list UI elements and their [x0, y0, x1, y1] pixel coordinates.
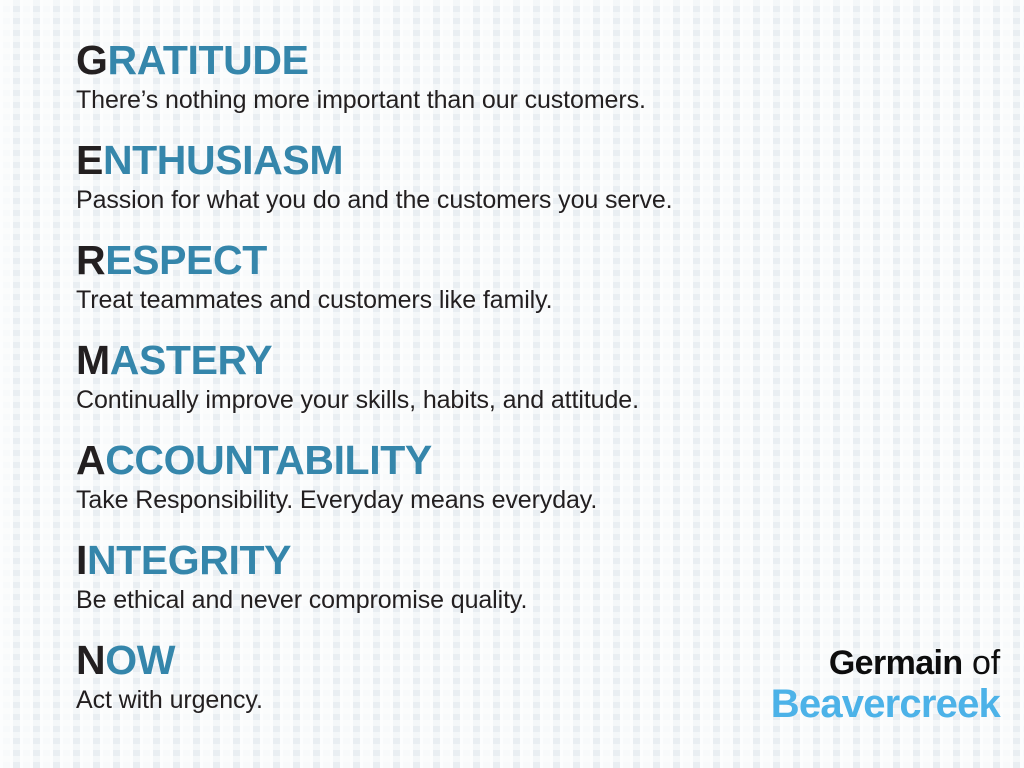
value-initial-now: N — [76, 637, 105, 683]
value-initial-mastery: M — [76, 337, 110, 383]
value-heading-integrity: INTEGRITY — [76, 538, 527, 582]
value-heading-gratitude: GRATITUDE — [76, 38, 646, 82]
values-slide: GRATITUDE There’s nothing more important… — [0, 0, 1024, 768]
value-initial-gratitude: G — [76, 37, 108, 83]
value-block-gratitude: GRATITUDE There’s nothing more important… — [76, 38, 646, 115]
logo-line-primary: Germain of — [771, 644, 1000, 682]
value-heading-rest-now: OW — [105, 637, 175, 683]
value-heading-mastery: MASTERY — [76, 338, 639, 382]
value-block-integrity: INTEGRITY Be ethical and never compromis… — [76, 538, 527, 615]
value-heading-rest-integrity: NTEGRITY — [87, 537, 291, 583]
value-heading-rest-enthusiasm: NTHUSIASM — [103, 137, 343, 183]
value-heading-rest-gratitude: RATITUDE — [108, 37, 309, 83]
value-heading-rest-mastery: ASTERY — [110, 337, 272, 383]
value-heading-rest-respect: ESPECT — [105, 237, 267, 283]
logo-location-name: Beavercreek — [771, 682, 1000, 726]
value-initial-integrity: I — [76, 537, 87, 583]
value-heading-rest-accountability: CCOUNTABILITY — [105, 437, 432, 483]
value-description-now: Act with urgency. — [76, 685, 263, 715]
value-description-respect: Treat teammates and customers like famil… — [76, 285, 553, 315]
value-block-mastery: MASTERY Continually improve your skills,… — [76, 338, 639, 415]
value-description-mastery: Continually improve your skills, habits,… — [76, 385, 639, 415]
logo-brand-name: Germain — [829, 644, 963, 682]
value-heading-respect: RESPECT — [76, 238, 553, 282]
company-logo: Germain of Beavercreek — [771, 644, 1000, 726]
slide-content: GRATITUDE There’s nothing more important… — [0, 0, 1024, 768]
value-description-enthusiasm: Passion for what you do and the customer… — [76, 185, 673, 215]
value-initial-accountability: A — [76, 437, 105, 483]
value-heading-accountability: ACCOUNTABILITY — [76, 438, 597, 482]
value-heading-now: NOW — [76, 638, 263, 682]
value-block-now: NOW Act with urgency. — [76, 638, 263, 715]
logo-connector-word: of — [972, 644, 1000, 682]
value-initial-enthusiasm: E — [76, 137, 103, 183]
value-description-accountability: Take Responsibility. Everyday means ever… — [76, 485, 597, 515]
value-description-gratitude: There’s nothing more important than our … — [76, 85, 646, 115]
value-block-accountability: ACCOUNTABILITY Take Responsibility. Ever… — [76, 438, 597, 515]
value-block-respect: RESPECT Treat teammates and customers li… — [76, 238, 553, 315]
value-block-enthusiasm: ENTHUSIASM Passion for what you do and t… — [76, 138, 673, 215]
value-initial-respect: R — [76, 237, 105, 283]
value-description-integrity: Be ethical and never compromise quality. — [76, 585, 527, 615]
value-heading-enthusiasm: ENTHUSIASM — [76, 138, 673, 182]
